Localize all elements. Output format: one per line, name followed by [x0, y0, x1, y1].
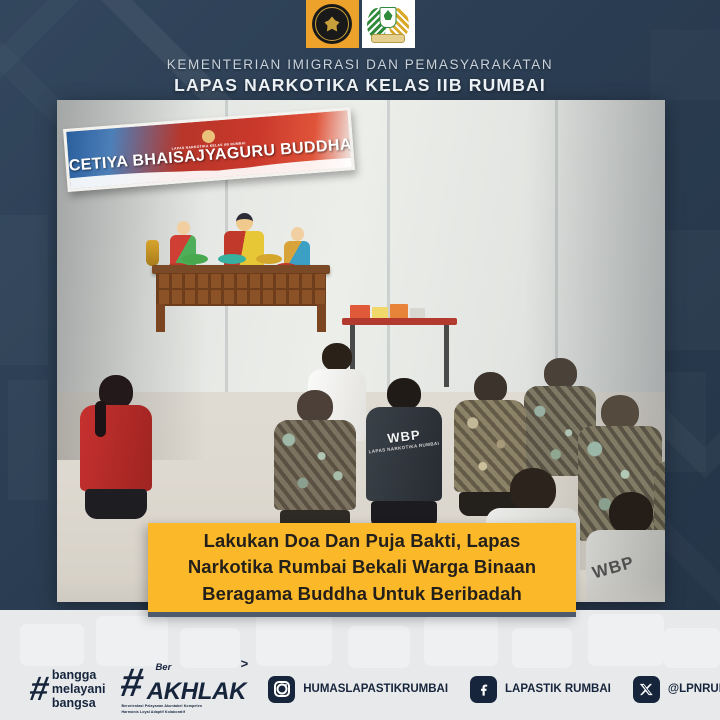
- caption-line: Beragama Buddha Untuk Beribadah: [202, 581, 522, 607]
- caption-line: Narkotika Rumbai Bekali Warga Binaan: [188, 554, 536, 580]
- offering-box: [350, 305, 370, 319]
- x-twitter-icon: [633, 676, 660, 703]
- poster-canvas: KEMENTERIAN IMIGRASI DAN PEMASYARAKATAN …: [0, 0, 720, 720]
- social-link-x[interactable]: @LPNRUMBAI: [633, 676, 720, 703]
- altar-leg: [317, 304, 326, 332]
- background-block: [662, 230, 720, 350]
- x-handle: @LPNRUMBAI: [668, 683, 720, 695]
- table-leg: [444, 325, 449, 387]
- background-block: [8, 380, 48, 500]
- akhlak-word: AKHLAK: [147, 681, 247, 704]
- bangga-line: melayani: [52, 682, 106, 696]
- offering-bowl: [218, 254, 246, 264]
- caption-line: Lakukan Doa Dan Puja Bakti, Lapas: [204, 528, 521, 554]
- bangga-line: bangsa: [52, 696, 106, 710]
- garuda-kemenimipas-seal-icon: [306, 0, 359, 48]
- logo-row: [0, 0, 720, 48]
- instagram-handle: HUMASLAPASTIKRUMBAI: [303, 683, 448, 695]
- headline-caption: Lakukan Doa Dan Puja Bakti, Lapas Narkot…: [148, 523, 576, 617]
- buddha-altar: [152, 207, 330, 332]
- altar-leg: [156, 304, 165, 332]
- background-block: [0, 215, 48, 365]
- ministry-title: KEMENTERIAN IMIGRASI DAN PEMASYARAKATAN: [0, 57, 720, 72]
- social-link-instagram[interactable]: HUMASLAPASTIKRUMBAI: [268, 676, 448, 703]
- akhlak-ber: Ber: [155, 662, 171, 673]
- social-link-facebook[interactable]: LAPASTIK RUMBAI: [470, 676, 611, 703]
- instagram-icon: [268, 676, 295, 703]
- background-block: [660, 372, 706, 472]
- social-media-bar: # bangga melayani bangsa # AKHLAK Ber > …: [0, 658, 720, 720]
- hashtag-icon: #: [27, 672, 51, 706]
- incense-urn: [146, 240, 159, 266]
- hashtag-icon: #: [118, 663, 147, 703]
- bangga-line: bangga: [52, 668, 106, 682]
- poster-header: KEMENTERIAN IMIGRASI DAN PEMASYARAKATAN …: [0, 0, 720, 96]
- offering-box: [390, 304, 408, 319]
- person-red-shirt: [79, 375, 153, 519]
- table-top: [342, 318, 457, 325]
- facebook-icon: [470, 676, 497, 703]
- offering-bowl: [256, 254, 282, 264]
- offering-bowl: [182, 254, 208, 264]
- berakhlak-logo: # AKHLAK Ber > Berorientasi Pelayanan Ak…: [121, 663, 246, 714]
- poster-footer: # bangga melayani bangsa # AKHLAK Ber > …: [0, 610, 720, 720]
- person-batik-shirt: [273, 390, 357, 536]
- bangga-melayani-bangsa-logo: # bangga melayani bangsa: [30, 668, 105, 710]
- altar-carved-apron: [156, 273, 326, 306]
- akhlak-subtitle-2: Harmonis Loyal Adaptif Kolaboratif: [121, 710, 246, 715]
- akhlak-subtitle-1: Berorientasi Pelayanan Akuntabel Kompete…: [121, 704, 246, 709]
- pemasyarakatan-logo-icon: [362, 0, 415, 48]
- person-wbp-shirt: WBP LAPAS NARKOTIKA RUMBAI: [365, 378, 443, 529]
- unit-title: LAPAS NARKOTIKA KELAS IIB RUMBAI: [0, 75, 720, 96]
- facebook-handle: LAPASTIK RUMBAI: [505, 683, 611, 695]
- akhlak-arrow-icon: >: [241, 656, 249, 671]
